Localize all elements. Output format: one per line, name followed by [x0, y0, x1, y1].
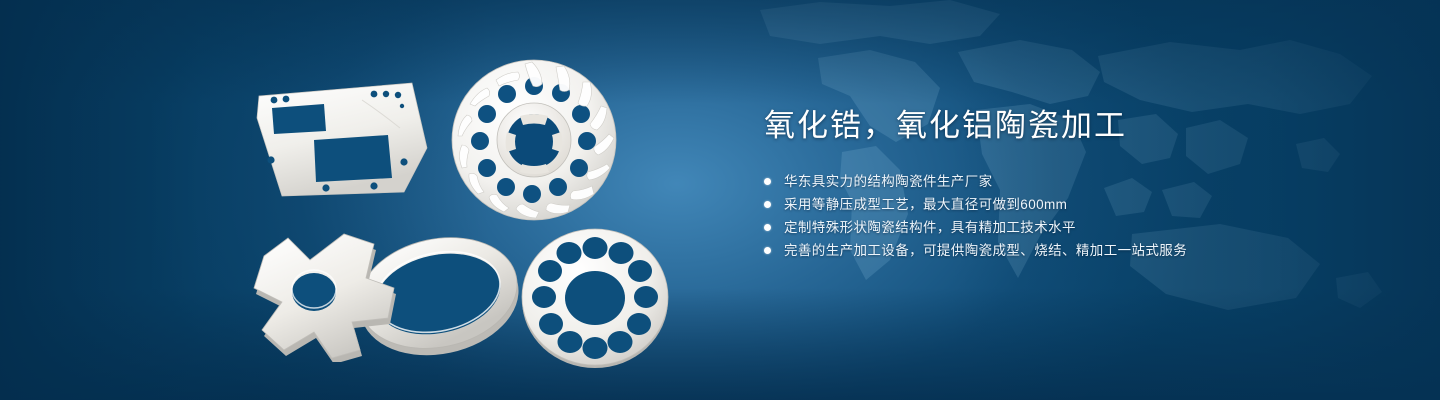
list-item: 华东具实力的结构陶瓷件生产厂家 [764, 170, 1384, 193]
ceramic-cross-part [248, 226, 408, 362]
banner-copy: 氧化锆，氧化铝陶瓷加工 华东具实力的结构陶瓷件生产厂家 采用等静压成型工艺，最大… [764, 104, 1384, 262]
ceramic-perforated-disc [518, 224, 672, 370]
promo-banner: 氧化锆，氧化铝陶瓷加工 华东具实力的结构陶瓷件生产厂家 采用等静压成型工艺，最大… [0, 0, 1440, 400]
banner-title: 氧化锆，氧化铝陶瓷加工 [764, 104, 1384, 148]
feature-text: 采用等静压成型工艺，最大直径可做到600mm [784, 193, 1067, 216]
ceramic-mounting-plate [252, 78, 434, 200]
bullet-dot-icon [764, 178, 771, 185]
bullet-dot-icon [764, 247, 771, 254]
feature-list: 华东具实力的结构陶瓷件生产厂家 采用等静压成型工艺，最大直径可做到600mm 定… [764, 170, 1384, 262]
feature-text: 定制特殊形状陶瓷结构件，具有精加工技术水平 [784, 216, 1076, 239]
list-item: 完善的生产加工设备，可提供陶瓷成型、烧结、精加工一站式服务 [764, 239, 1384, 262]
bullet-dot-icon [764, 201, 771, 208]
feature-text: 华东具实力的结构陶瓷件生产厂家 [784, 170, 993, 193]
list-item: 定制特殊形状陶瓷结构件，具有精加工技术水平 [764, 216, 1384, 239]
bullet-dot-icon [764, 224, 771, 231]
ceramic-impeller-disc [448, 52, 620, 224]
list-item: 采用等静压成型工艺，最大直径可做到600mm [764, 193, 1384, 216]
feature-text: 完善的生产加工设备，可提供陶瓷成型、烧结、精加工一站式服务 [784, 239, 1187, 262]
